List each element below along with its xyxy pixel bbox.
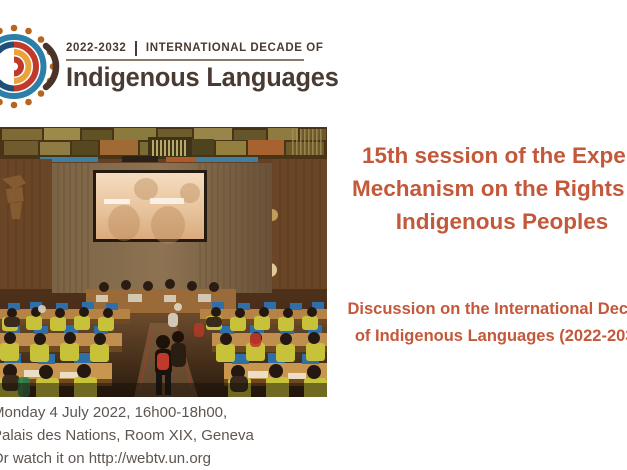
logo-tagline: INTERNATIONAL DECADE OF [146, 42, 324, 54]
event-subtitle: Discussion on the International Decade o… [337, 296, 627, 349]
logo-wordmark: 2022-2032 INTERNATIONAL DECADE OF Indige… [66, 40, 316, 92]
event-title: 15th session of the Expert Mechanism on … [337, 140, 627, 239]
event-title-line-2: Mechanism on the Rights of [337, 173, 627, 206]
event-details: Monday 4 July 2022, 16h00-18h00, Palais … [0, 402, 332, 470]
logo-underline-rule [66, 59, 304, 61]
logo-tagline-row: 2022-2032 INTERNATIONAL DECADE OF [66, 40, 316, 56]
event-subtitle-line-2: of Indigenous Languages (2022-2032) [337, 323, 627, 350]
event-title-line-3: Indigenous Peoples [337, 206, 627, 239]
indigenous-languages-decade-emblem-icon [0, 22, 62, 118]
logo-years: 2022-2032 [66, 42, 135, 54]
logo-title: Indigenous Languages [66, 63, 301, 92]
event-datetime: Monday 4 July 2022, 16h00-18h00, [0, 402, 332, 425]
logo-separator [135, 41, 137, 56]
event-location: Palais des Nations, Room XIX, Geneva [0, 425, 332, 448]
header-logo: 2022-2032 INTERNATIONAL DECADE OF Indige… [0, 18, 330, 118]
conference-hall-photo [0, 127, 327, 397]
event-title-line-1: 15th session of the Expert [337, 140, 627, 173]
event-subtitle-line-1: Discussion on the International Decade [337, 296, 627, 323]
event-webcast-link[interactable]: Or watch it on http://webtv.un.org [0, 448, 332, 470]
